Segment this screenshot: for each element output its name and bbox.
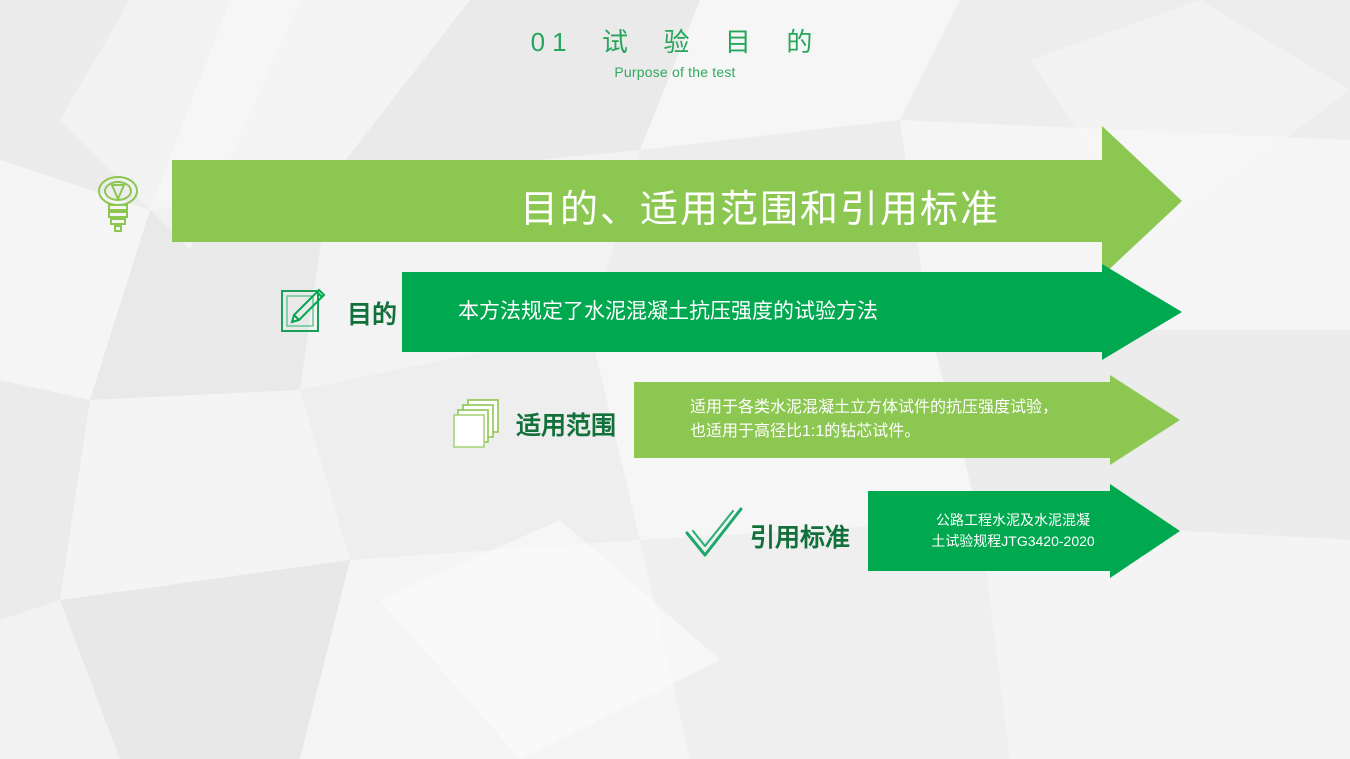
row-label-standards: 引用标准 [750, 518, 850, 554]
arrow-standards [868, 484, 1180, 578]
lightbulb-icon [92, 172, 144, 234]
arrow-purpose [402, 264, 1182, 360]
lightbulb-icon-glyph [92, 172, 144, 234]
arrow-scope-shape [634, 375, 1180, 465]
stacked-pages-icon-glyph [452, 398, 504, 450]
slide-header: 01 试 验 目 的 Purpose of the test [0, 28, 1350, 80]
check-mark-icon [683, 505, 745, 561]
arrow-purpose-shape [402, 264, 1182, 360]
check-mark-icon-glyph [683, 505, 745, 561]
arrow-stack: 目的、适用范围和引用标准 本方法规定了水泥混凝土抗压强度的试验方法 适用于各类水… [0, 0, 1350, 759]
stacked-pages-icon [452, 398, 504, 450]
pencil-square-icon-glyph [279, 286, 327, 336]
row-label-purpose: 目的 [347, 295, 397, 331]
banner-title: 目的、适用范围和引用标准 [520, 178, 1000, 233]
row-label-scope: 适用范围 [516, 406, 616, 442]
pencil-square-icon [279, 286, 327, 336]
page-subtitle: Purpose of the test [0, 64, 1350, 80]
page-title: 01 试 验 目 的 [0, 28, 1350, 58]
slide-canvas: 01 试 验 目 的 Purpose of the test 目的、适用范围和引… [0, 0, 1350, 759]
arrow-standards-shape [868, 484, 1180, 578]
arrow-scope [634, 375, 1180, 465]
